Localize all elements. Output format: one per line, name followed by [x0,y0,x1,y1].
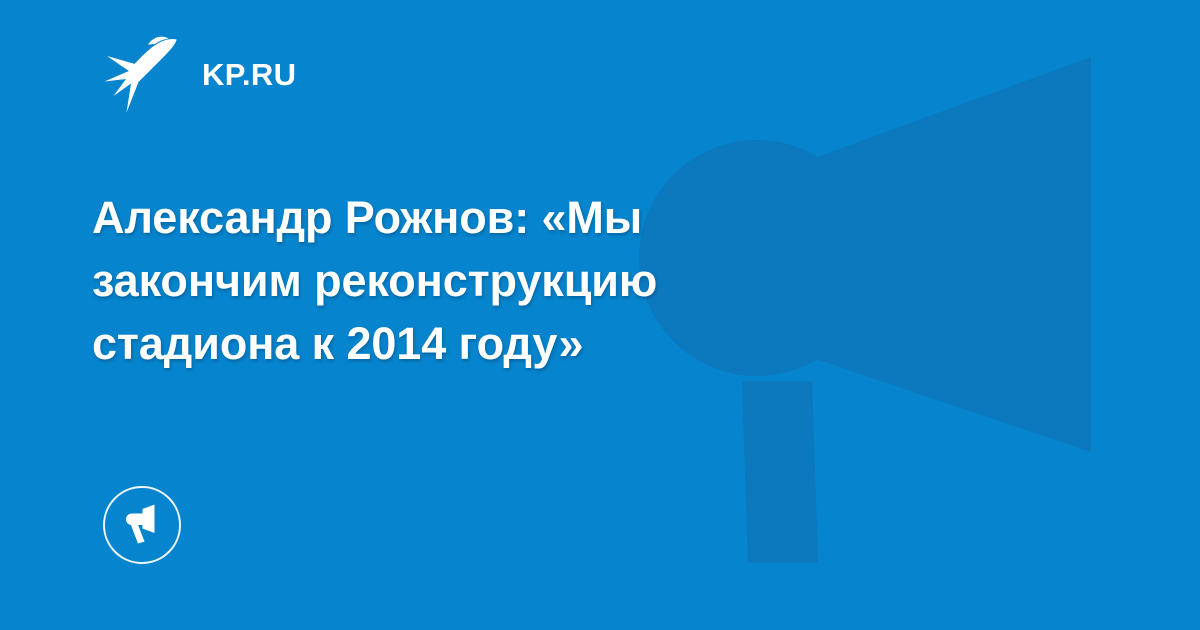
social-share-card: KP.RU Александр Рожнов: «Мы закончим рек… [0,0,1200,630]
brand-name: KP.RU [202,59,296,90]
megaphone-icon [120,503,164,547]
megaphone-badge[interactable] [103,486,181,564]
brand-lockup[interactable]: KP.RU [104,33,296,115]
page-title: Александр Рожнов: «Мы закончим реконстру… [92,186,832,375]
swallow-bird-icon [104,34,180,114]
